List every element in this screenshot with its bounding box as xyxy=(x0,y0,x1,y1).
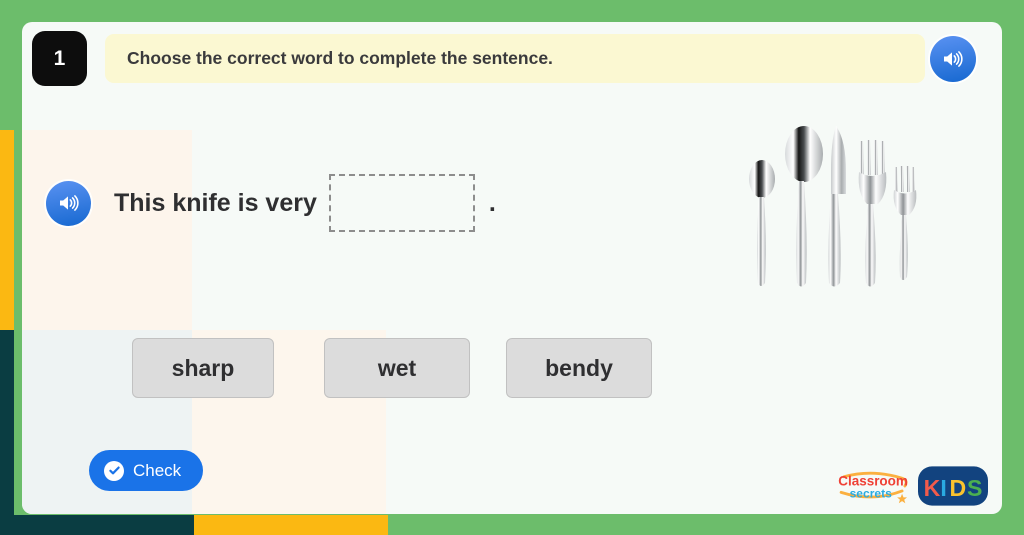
fork-icon-large xyxy=(859,140,887,287)
activity-card: 1 Choose the correct word to complete th… xyxy=(22,22,1002,514)
question-number-label: 1 xyxy=(54,47,66,71)
spoon-icon xyxy=(785,126,823,287)
read-sentence-speaker-button[interactable] xyxy=(46,181,91,226)
sentence-row: This knife is very . xyxy=(46,157,746,249)
question-header: 1 Choose the correct word to complete th… xyxy=(32,31,992,89)
cutlery-image xyxy=(740,114,920,304)
speaker-icon xyxy=(941,47,965,71)
background-band-teal-bottom xyxy=(0,515,194,535)
teaspoon-icon xyxy=(749,160,775,286)
question-number-badge: 1 xyxy=(32,31,87,86)
option-button[interactable]: wet xyxy=(324,338,470,398)
kids-letter-i: I xyxy=(940,475,946,501)
lesson-page: 1 Choose the correct word to complete th… xyxy=(0,0,1024,535)
sentence-suffix-text: . xyxy=(489,189,496,218)
kids-logo: K I D S xyxy=(918,465,988,507)
check-button-label: Check xyxy=(133,461,181,481)
check-button[interactable]: Check xyxy=(89,450,203,491)
answer-options: sharp wet bendy xyxy=(132,338,672,398)
check-circle-icon xyxy=(104,461,124,481)
secrets-wordmark: secrets xyxy=(850,486,892,500)
instruction-text: Choose the correct word to complete the … xyxy=(127,48,553,69)
speaker-icon xyxy=(57,191,81,215)
cutlery-illustration xyxy=(740,114,920,304)
kids-letter-s: S xyxy=(967,475,982,501)
star-icon xyxy=(897,494,907,504)
read-instruction-speaker-button[interactable] xyxy=(930,36,976,82)
kids-face-eye-lower xyxy=(946,488,950,492)
background-band-amber-bottom xyxy=(194,515,388,535)
footer-branding: Classroom secrets K I D S xyxy=(834,464,994,508)
background-band-teal-left xyxy=(0,330,14,535)
kids-letter-d: D xyxy=(950,475,967,501)
kids-face-eye-upper xyxy=(946,481,950,485)
option-button[interactable]: sharp xyxy=(132,338,274,398)
option-button[interactable]: bendy xyxy=(506,338,652,398)
answer-drop-slot[interactable] xyxy=(329,174,475,232)
sentence-prefix-text: This knife is very xyxy=(114,189,317,218)
knife-icon xyxy=(828,126,846,287)
checkmark-glyph xyxy=(108,464,121,477)
instruction-banner: Choose the correct word to complete the … xyxy=(105,34,925,83)
classroom-secrets-logo: Classroom secrets xyxy=(834,468,912,504)
fork-icon-small xyxy=(894,166,917,280)
kids-letter-k: K xyxy=(924,475,941,501)
